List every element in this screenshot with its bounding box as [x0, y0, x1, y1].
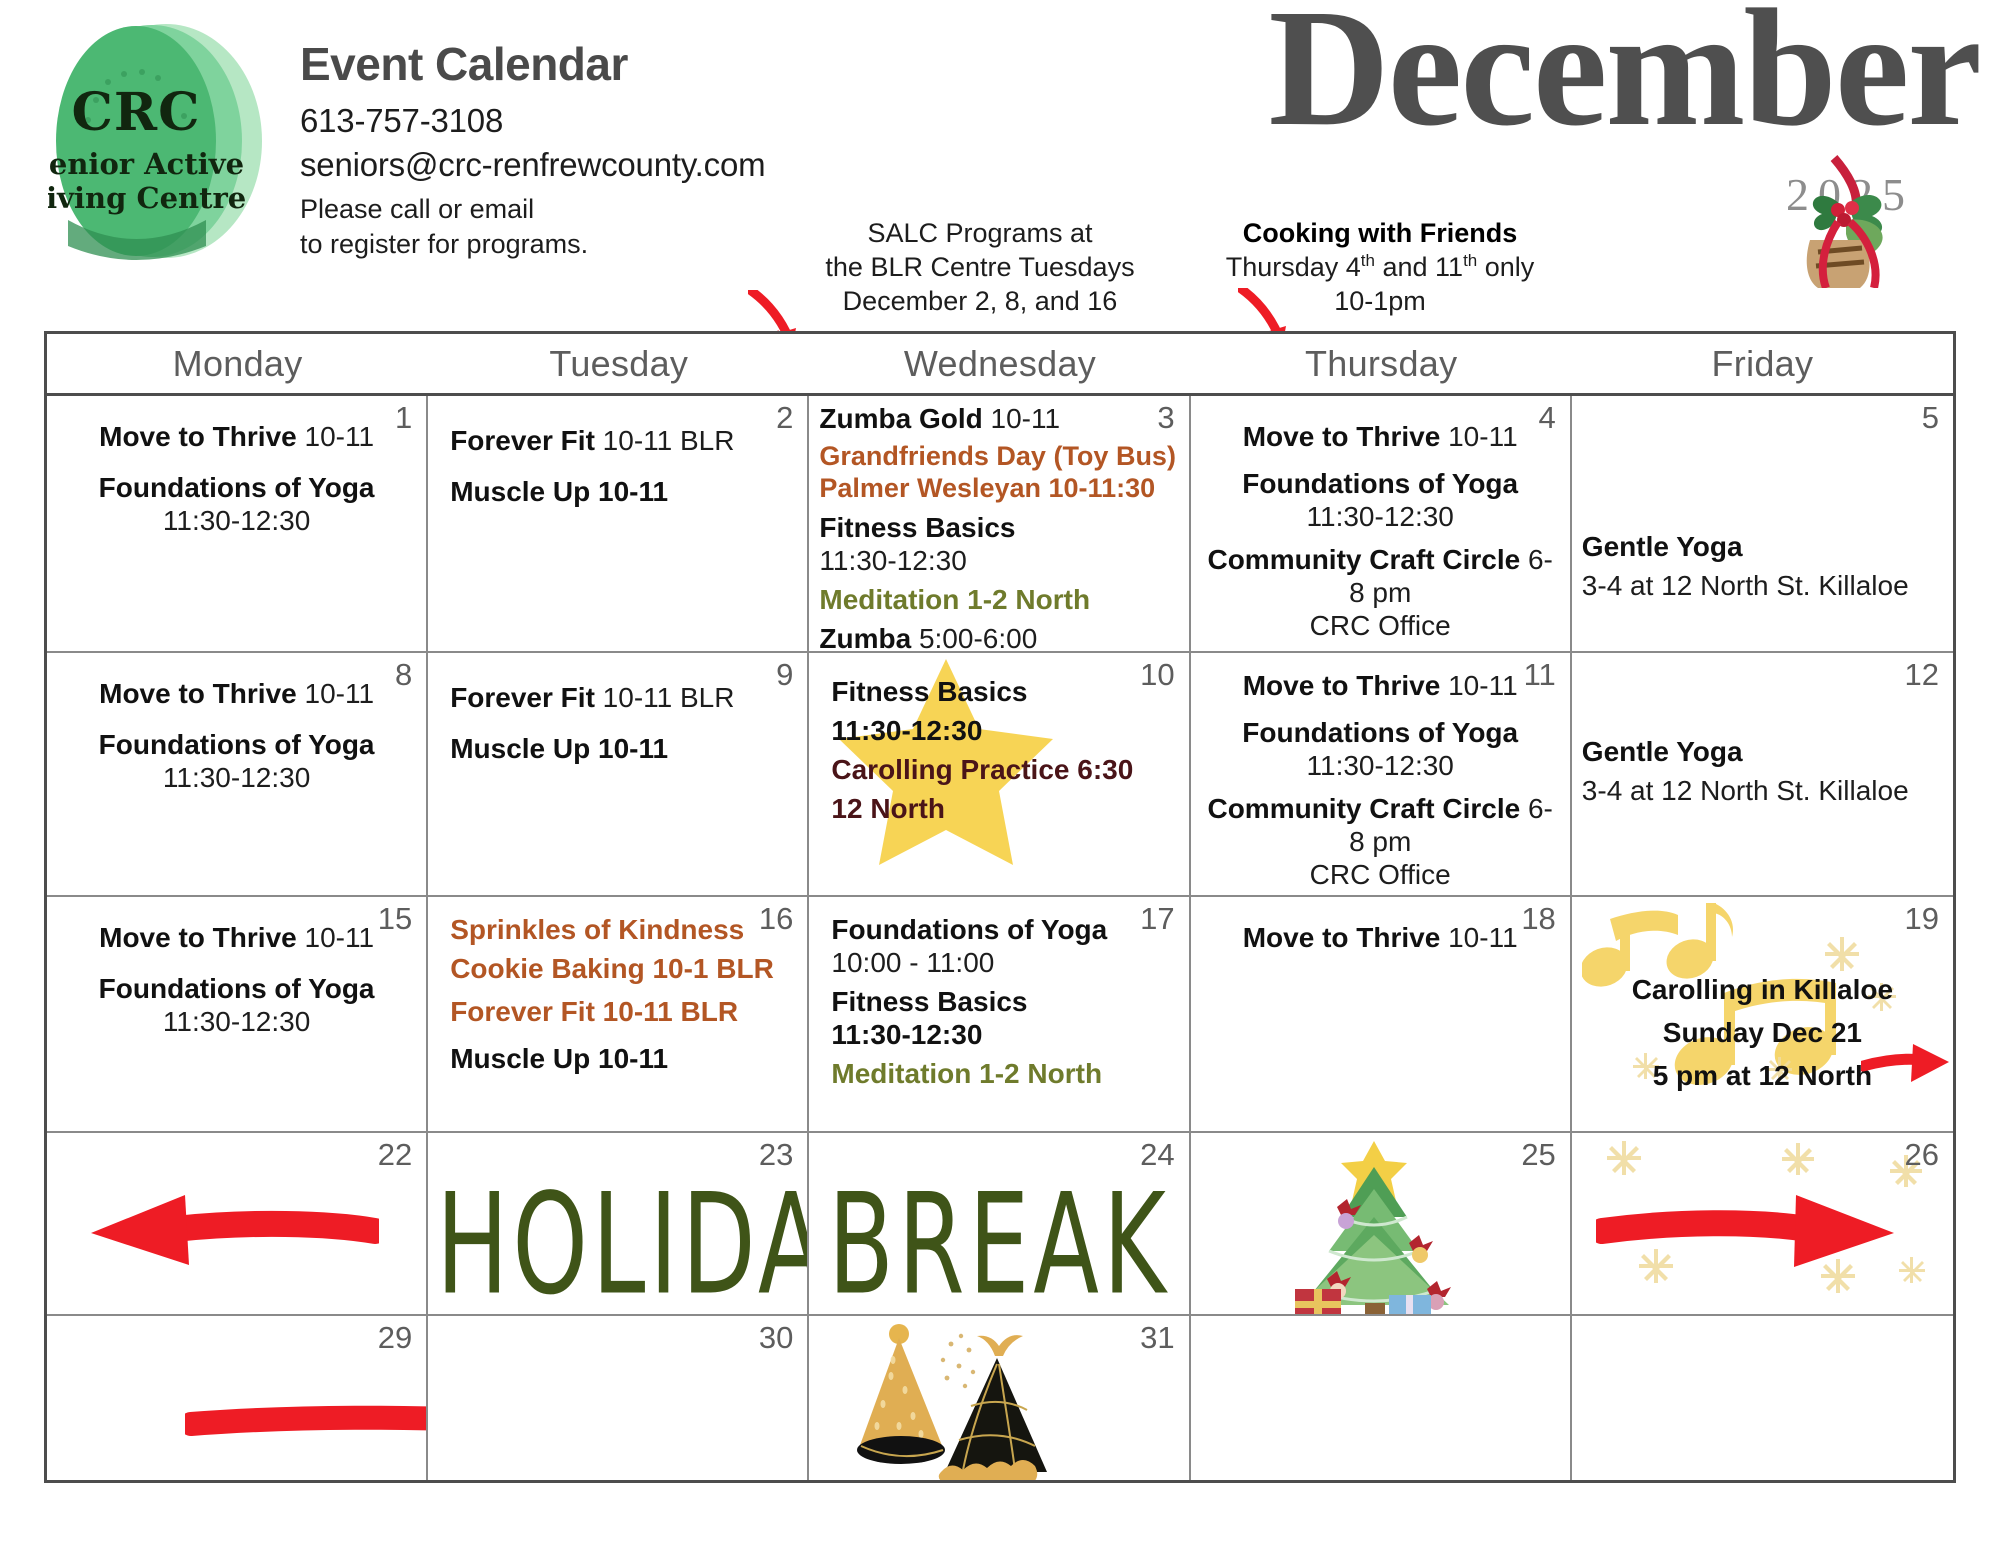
arrow-left-icon: [89, 1193, 379, 1274]
day-number: 25: [1521, 1137, 1555, 1173]
event-item: 3-4 at 12 North St. Killaloe: [1582, 569, 1943, 602]
day-cell-16[interactable]: 16 Sprinkles of Kindness Cookie Baking 1…: [428, 897, 809, 1131]
calendar-week-5: 29 30 31: [47, 1316, 1953, 1480]
event-item: Move to Thrive 10-11: [1201, 420, 1560, 453]
day-cell-30[interactable]: 30: [428, 1316, 809, 1480]
day-number: 26: [1905, 1137, 1939, 1173]
arrow-right-small-icon: [1861, 1040, 1951, 1091]
day-cell-11[interactable]: 11 Move to Thrive 10-11 Foundations of Y…: [1191, 653, 1572, 895]
day-number: 23: [759, 1137, 793, 1173]
day-events: Fitness Basics 11:30-12:30 Carolling Pra…: [819, 675, 1178, 825]
event-item: Foundations of Yoga: [1201, 716, 1560, 749]
day-events: Move to Thrive 10-11: [1201, 921, 1560, 954]
event-item: 10:00 - 11:00: [831, 946, 1178, 979]
event-item: Meditation 1-2 North: [819, 583, 1178, 616]
event-item: 11:30-12:30: [1201, 500, 1560, 533]
day-events: Gentle Yoga 3-4 at 12 North St. Killaloe: [1582, 530, 1943, 602]
day-cell-9[interactable]: 9 Forever Fit 10-11 BLR Muscle Up 10-11: [428, 653, 809, 895]
event-item: Palmer Wesleyan 10-11:30: [819, 473, 1178, 505]
callout-salc-line-2: the BLR Centre Tuesdays: [800, 250, 1160, 284]
event-item: 11:30-12:30: [831, 714, 1178, 747]
callout-cooking-line-1: Cooking with Friends: [1200, 216, 1560, 250]
event-item: 11:30-12:30: [1201, 749, 1560, 782]
event-item: Move to Thrive 10-11: [1201, 921, 1560, 954]
day-number: 17: [1140, 901, 1174, 937]
holiday-break-text-part-1: HOLIDAY: [436, 1175, 799, 1314]
event-item: 11:30-12:30: [57, 761, 416, 794]
dow-friday: Friday: [1572, 334, 1953, 393]
day-events: Sprinkles of Kindness Cookie Baking 10-1…: [438, 913, 797, 1075]
month-heading: December: [1268, 0, 1980, 152]
day-events: Forever Fit 10-11 BLR Muscle Up 10-11: [438, 681, 797, 765]
event-item: Fitness Basics: [831, 675, 1178, 708]
event-item: Community Craft Circle 6-8 pm: [1201, 792, 1560, 858]
event-item: Carolling Practice 6:30: [831, 753, 1178, 786]
event-item: 3-4 at 12 North St. Killaloe: [1582, 774, 1943, 807]
svg-text:Living Centre: Living Centre: [48, 181, 246, 215]
day-cell-17[interactable]: 17 Foundations of Yoga 10:00 - 11:00 Fit…: [809, 897, 1190, 1131]
day-cell-10[interactable]: 10 Fitness Basics 11:30-12:30 Carolling …: [809, 653, 1190, 895]
day-of-week-header-row: Monday Tuesday Wednesday Thursday Friday: [47, 334, 1953, 396]
day-cell-1[interactable]: 1 Move to Thrive 10-11 Foundations of Yo…: [47, 396, 428, 651]
calendar-week-4: 22 23 HOLIDAY 24 BREAK: [47, 1133, 1953, 1316]
dow-tuesday: Tuesday: [428, 334, 809, 393]
event-item: Muscle Up 10-11: [450, 475, 797, 508]
day-cell-31[interactable]: 31: [809, 1316, 1190, 1480]
registration-note-line1: Please call or email: [300, 192, 765, 227]
day-cell-26[interactable]: 26: [1572, 1133, 1953, 1314]
day-cell-empty-2: [1572, 1316, 1953, 1480]
callout-salc-programs: SALC Programs at the BLR Centre Tuesdays…: [800, 216, 1160, 318]
email-address: seniors@crc-renfrewcounty.com: [300, 146, 765, 184]
event-item: Zumba 5:00-6:00: [819, 622, 1178, 651]
event-item: Foundations of Yoga: [1201, 467, 1560, 500]
day-number: 22: [378, 1137, 412, 1173]
event-item: CRC Office: [1201, 858, 1560, 891]
day-events: Gentle Yoga 3-4 at 12 North St. Killaloe: [1582, 735, 1943, 807]
event-item: Cookie Baking 10-1 BLR: [450, 952, 797, 985]
day-number: 16: [759, 901, 793, 937]
org-contact-block: Event Calendar 613-757-3108 seniors@crc-…: [300, 40, 765, 261]
arrow-right-long-icon: [185, 1386, 428, 1467]
event-item: 12 North: [831, 792, 1178, 825]
page-header: CRC Senior Active Living Centre Event Ca…: [0, 0, 2000, 330]
party-hats-icon: [847, 1322, 1077, 1480]
calendar-week-1: 1 Move to Thrive 10-11 Foundations of Yo…: [47, 396, 1953, 653]
event-item: Move to Thrive 10-11: [57, 677, 416, 710]
callout-salc-line-3: December 2, 8, and 16: [800, 284, 1160, 318]
callout-cooking-line-2: Thursday 4th and 11th only: [1200, 250, 1560, 284]
holiday-break-text-part-2: BREAK: [817, 1175, 1180, 1314]
holly-bells-icon: [1722, 148, 1952, 288]
day-cell-empty-1: [1191, 1316, 1572, 1480]
event-item: Zumba Gold 10-11: [819, 402, 1178, 435]
day-cell-18[interactable]: 18 Move to Thrive 10-11: [1191, 897, 1572, 1131]
day-events: Zumba Gold 10-11 Grandfriends Day (Toy B…: [819, 402, 1178, 651]
event-item: Foundations of Yoga: [831, 913, 1178, 946]
day-events: Move to Thrive 10-11 Foundations of Yoga…: [1201, 669, 1560, 891]
day-number: 3: [1157, 400, 1174, 436]
calendar-week-2: 8 Move to Thrive 10-11 Foundations of Yo…: [47, 653, 1953, 897]
event-item: Muscle Up 10-11: [450, 732, 797, 765]
day-number: 15: [378, 901, 412, 937]
svg-text:Senior Active: Senior Active: [48, 147, 244, 181]
day-events: Move to Thrive 10-11 Foundations of Yoga…: [1201, 420, 1560, 642]
calendar-grid: Monday Tuesday Wednesday Thursday Friday…: [44, 331, 1956, 1483]
day-number: 1: [395, 400, 412, 436]
registration-note: Please call or email to register for pro…: [300, 192, 765, 261]
crc-logo: CRC Senior Active Living Centre: [48, 22, 274, 260]
event-item: Carolling in Killaloe: [1582, 973, 1943, 1006]
day-number: 9: [776, 657, 793, 693]
event-item: Forever Fit 10-11 BLR: [450, 424, 797, 457]
event-item: 11:30-12:30: [819, 544, 1178, 577]
event-item: Foundations of Yoga: [57, 972, 416, 1005]
registration-note-line2: to register for programs.: [300, 227, 765, 262]
day-events: Foundations of Yoga 10:00 - 11:00 Fitnes…: [819, 913, 1178, 1090]
svg-text:CRC: CRC: [72, 82, 201, 143]
callout-salc-line-1: SALC Programs at: [800, 216, 1160, 250]
day-events: Move to Thrive 10-11 Foundations of Yoga…: [57, 921, 416, 1038]
dow-wednesday: Wednesday: [809, 334, 1190, 393]
day-number: 8: [395, 657, 412, 693]
day-number: 31: [1140, 1320, 1174, 1356]
christmas-tree-icon: [1279, 1139, 1469, 1314]
calendar-weeks: 1 Move to Thrive 10-11 Foundations of Yo…: [47, 396, 1953, 1480]
day-cell-8[interactable]: 8 Move to Thrive 10-11 Foundations of Yo…: [47, 653, 428, 895]
day-cell-22[interactable]: 22: [47, 1133, 428, 1314]
event-item: Gentle Yoga: [1582, 735, 1943, 768]
day-events: Forever Fit 10-11 BLR Muscle Up 10-11: [438, 424, 797, 508]
day-cell-23[interactable]: 23 HOLIDAY: [428, 1133, 809, 1314]
day-number: 19: [1905, 901, 1939, 937]
day-cell-19[interactable]: 19 Carolling in Killaloe Sunday Dec 21 5…: [1572, 897, 1953, 1131]
calendar-week-3: 15 Move to Thrive 10-11 Foundations of Y…: [47, 897, 1953, 1133]
day-cell-24[interactable]: 24 BREAK: [809, 1133, 1190, 1314]
day-number: 29: [378, 1320, 412, 1356]
day-cell-25[interactable]: 25: [1191, 1133, 1572, 1314]
day-number: 24: [1140, 1137, 1174, 1173]
event-item: Foundations of Yoga: [57, 471, 416, 504]
day-cell-4[interactable]: 4 Move to Thrive 10-11 Foundations of Yo…: [1191, 396, 1572, 651]
day-cell-2[interactable]: 2 Forever Fit 10-11 BLR Muscle Up 10-11: [428, 396, 809, 651]
event-item: Fitness Basics: [819, 511, 1178, 544]
day-cell-3[interactable]: 3 Zumba Gold 10-11 Grandfriends Day (Toy…: [809, 396, 1190, 651]
event-item: 11:30-12:30: [57, 504, 416, 537]
page-title: Event Calendar: [300, 40, 765, 88]
phone-number: 613-757-3108: [300, 102, 765, 140]
event-item: Community Craft Circle 6-8 pm: [1201, 543, 1560, 609]
day-events: Move to Thrive 10-11 Foundations of Yoga…: [57, 420, 416, 537]
event-item: Forever Fit 10-11 BLR: [450, 681, 797, 714]
day-events: Move to Thrive 10-11 Foundations of Yoga…: [57, 677, 416, 794]
event-item: Move to Thrive 10-11: [57, 921, 416, 954]
day-number: 10: [1140, 657, 1174, 693]
event-item: Muscle Up 10-11: [450, 1042, 797, 1075]
event-item: Grandfriends Day (Toy Bus): [819, 441, 1178, 473]
event-item: 11:30-12:30: [831, 1018, 1178, 1051]
event-item: 11:30-12:30: [57, 1005, 416, 1038]
event-item: Forever Fit 10-11 BLR: [450, 995, 797, 1028]
dow-monday: Monday: [47, 334, 428, 393]
day-number: 4: [1539, 400, 1556, 436]
event-item: Move to Thrive 10-11: [57, 420, 416, 453]
day-number: 2: [776, 400, 793, 436]
day-cell-29[interactable]: 29: [47, 1316, 428, 1480]
day-number: 12: [1905, 657, 1939, 693]
event-item: Foundations of Yoga: [57, 728, 416, 761]
event-item: Gentle Yoga: [1582, 530, 1943, 563]
event-item: Fitness Basics: [831, 985, 1178, 1018]
day-number: 5: [1922, 400, 1939, 436]
event-item: Meditation 1-2 North: [831, 1057, 1178, 1090]
dow-thursday: Thursday: [1191, 334, 1572, 393]
day-number: 30: [759, 1320, 793, 1356]
day-cell-15[interactable]: 15 Move to Thrive 10-11 Foundations of Y…: [47, 897, 428, 1131]
day-cell-12[interactable]: 12 Gentle Yoga 3-4 at 12 North St. Killa…: [1572, 653, 1953, 895]
event-item: Move to Thrive 10-11: [1201, 669, 1560, 702]
day-number: 18: [1521, 901, 1555, 937]
event-item: CRC Office: [1201, 609, 1560, 642]
day-cell-5[interactable]: 5 Gentle Yoga 3-4 at 12 North St. Killal…: [1572, 396, 1953, 651]
day-number: 11: [1524, 657, 1556, 693]
arrow-right-icon: [1596, 1191, 1896, 1276]
calendar-page: CRC Senior Active Living Centre Event Ca…: [0, 0, 2000, 1545]
event-item: Sprinkles of Kindness: [450, 913, 797, 946]
